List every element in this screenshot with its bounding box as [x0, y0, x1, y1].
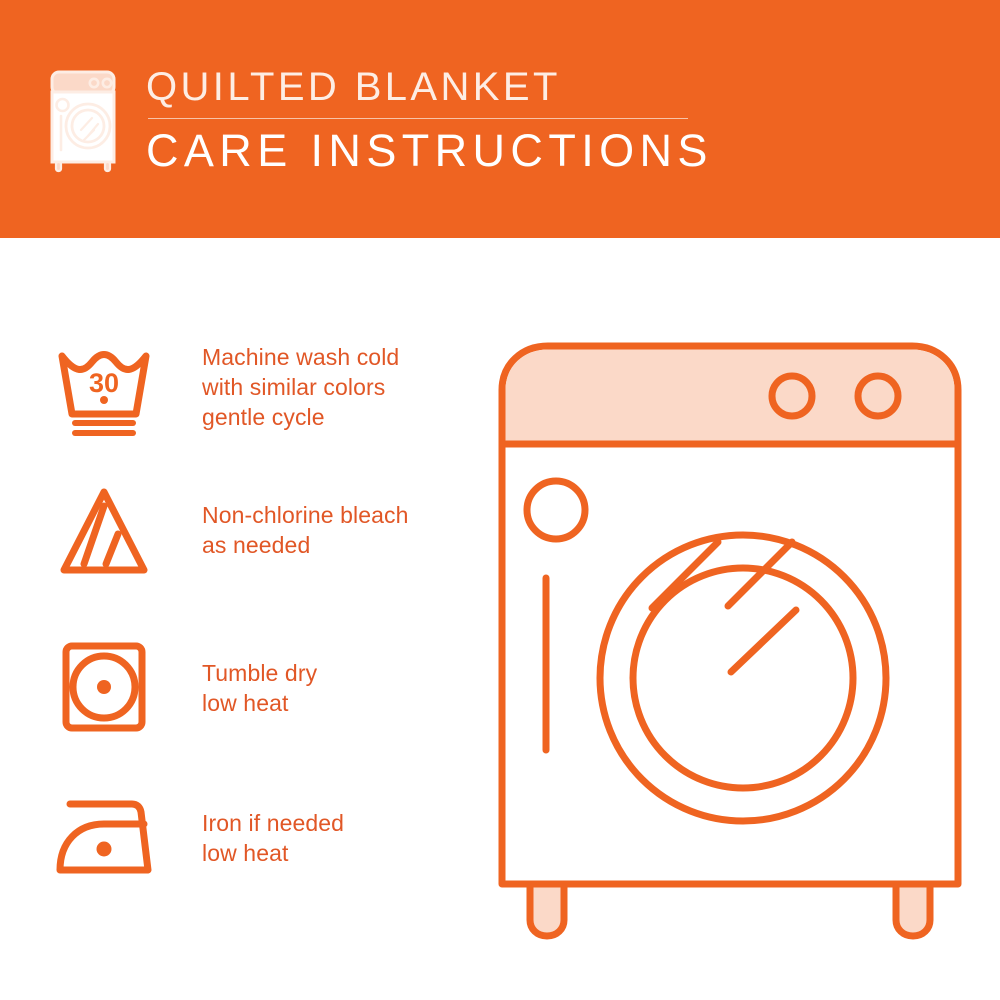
- wash-temperature-label: 30: [89, 368, 119, 398]
- title-block: QUILTED BLANKET CARE INSTRUCTIONS: [146, 62, 713, 176]
- control-panel: [506, 350, 955, 443]
- front-load-washing-machine-illustration: [490, 330, 970, 940]
- care-text-dry: Tumble dry low heat: [202, 636, 317, 718]
- care-row-dry: Tumble dry low heat: [48, 636, 317, 740]
- triangle-non-chlorine-bleach-icon: [48, 478, 160, 582]
- care-text-wash: Machine wash cold with similar colors ge…: [202, 336, 399, 432]
- care-text-iron: Iron if needed low heat: [202, 786, 344, 868]
- header-banner: QUILTED BLANKET CARE INSTRUCTIONS: [0, 0, 1000, 238]
- care-row-bleach: Non-chlorine bleach as needed: [48, 478, 408, 582]
- care-instruction-list: 30 Machine wash cold with similar colors…: [0, 238, 470, 1000]
- leg-left: [530, 884, 564, 936]
- title-divider: [148, 118, 688, 119]
- tumble-dry-low-heat-icon: [48, 636, 160, 740]
- washing-machine-icon: [44, 66, 126, 176]
- care-row-wash: 30 Machine wash cold with similar colors…: [48, 336, 399, 440]
- wash-tub-30-gentle-icon: 30: [48, 336, 160, 440]
- leg-right: [896, 884, 930, 936]
- page-title-primary: QUILTED BLANKET: [146, 64, 713, 110]
- page-title-secondary: CARE INSTRUCTIONS: [146, 126, 713, 176]
- care-text-bleach: Non-chlorine bleach as needed: [202, 478, 408, 560]
- header-content: QUILTED BLANKET CARE INSTRUCTIONS: [44, 62, 713, 176]
- care-row-iron: Iron if needed low heat: [48, 786, 344, 890]
- iron-low-heat-icon: [48, 786, 160, 890]
